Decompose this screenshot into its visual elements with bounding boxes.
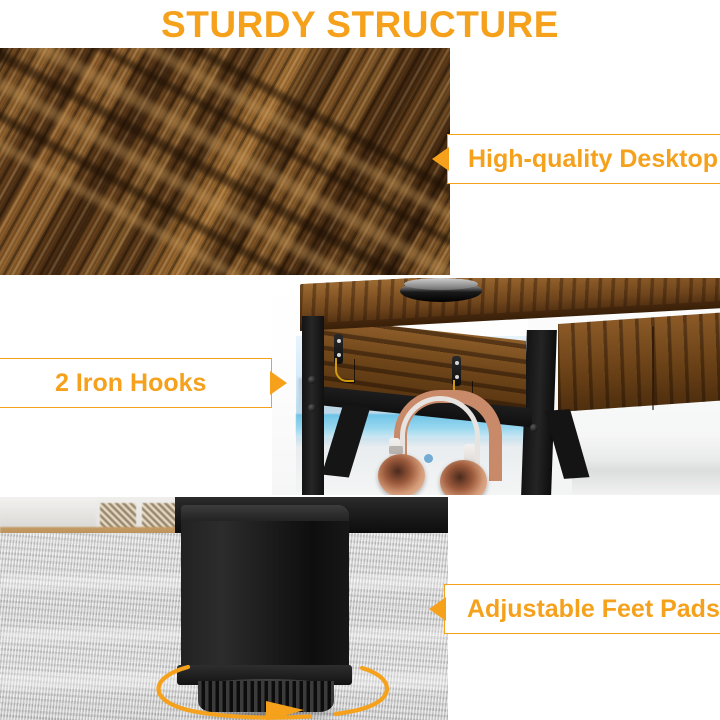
callout-label: Adjustable Feet Pads [467,597,720,622]
page-title: STURDY STRUCTURE [0,4,720,46]
baseboard [572,434,720,495]
hook-screw [455,361,459,365]
infographic-stage: STURDY STRUCTURE [0,0,720,720]
triangle-pointer-icon [432,147,449,171]
panel-desktop-photo [0,48,450,275]
callout-label: 2 Iron Hooks [55,371,206,396]
headphones-clip [389,446,403,454]
drawer-divider [652,326,654,410]
callout-adjustable-feet-pads[interactable]: Adjustable Feet Pads [444,584,720,634]
triangle-pointer-icon [429,597,446,621]
hook-screw [337,353,341,357]
callout-2-iron-hooks[interactable]: 2 Iron Hooks [0,358,272,408]
panel-hooks-photo [272,278,720,495]
rotation-arrow-icon [140,657,412,720]
headphones-logo [424,454,433,463]
frame-bolt [308,376,316,384]
headphones-earcup-left [378,454,425,495]
hook-curve [335,358,354,382]
bed-skirt [0,497,96,531]
desk-accessory-puck-top [404,278,478,290]
callout-label: High-quality Desktop [468,147,718,172]
panel-feet-photo [0,497,448,720]
hook-screw [337,339,341,343]
desk-leg [181,505,349,674]
headphones-earcup-right [440,460,487,495]
triangle-pointer-icon [270,371,287,395]
desk-leg-top-bevel [181,505,349,521]
desk-drawer-face [558,313,720,412]
callout-high-quality-desktop[interactable]: High-quality Desktop [447,134,720,184]
hook-screw [455,375,459,379]
frame-bolt [530,424,538,432]
frame-bolt [308,404,316,412]
